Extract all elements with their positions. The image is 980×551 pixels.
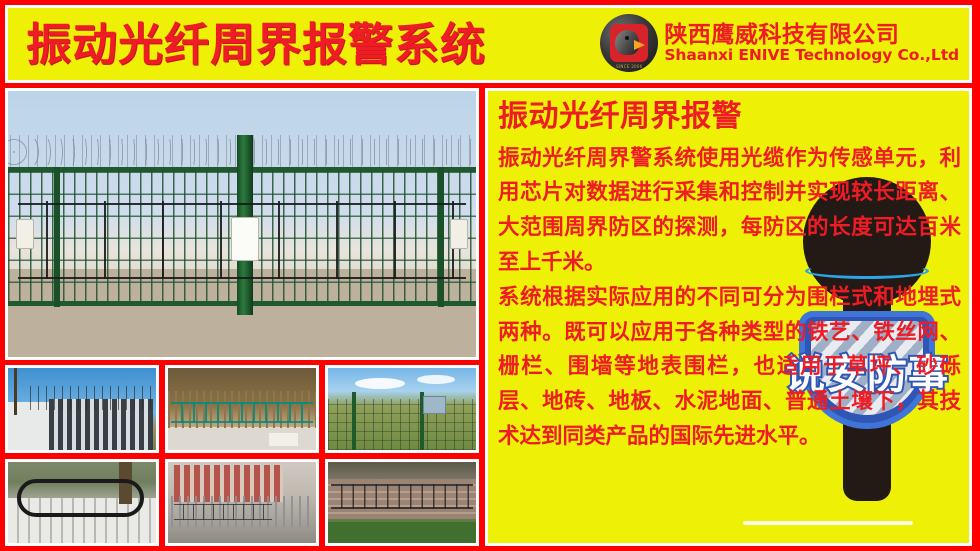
grassland-mesh-fence-photo bbox=[325, 365, 479, 453]
ground-buried-grid-photo bbox=[5, 459, 159, 547]
thumbnail-row-top bbox=[5, 365, 479, 453]
factory-perimeter-fence-photo bbox=[165, 459, 319, 547]
thumb2-cable bbox=[171, 402, 313, 423]
thumb3-box bbox=[423, 396, 447, 414]
hillside-iron-fence-photo bbox=[165, 365, 319, 453]
poster-root: 振动光纤周界报警系统 SINCE 2006 陕西鹰威科技有限公司 Shaanxi… bbox=[0, 0, 980, 551]
panel-paragraph-1: 振动光纤周界警系统使用光缆作为传感单元，利用芯片对数据进行采集和控制并实现较长距… bbox=[498, 142, 961, 281]
company-name-en: Shaanxi ENIVE Technology Co.,Ltd bbox=[664, 47, 959, 63]
brick-wall-cable-photo bbox=[325, 459, 479, 547]
thumbnail-row-bottom bbox=[5, 459, 479, 547]
thumb3-mesh bbox=[328, 399, 476, 450]
thumb1-cable bbox=[23, 386, 156, 410]
thumb2-box bbox=[269, 433, 299, 446]
thumbnail-grid bbox=[5, 365, 479, 546]
white-wall-steel-fence-photo bbox=[5, 365, 159, 453]
logo-plate bbox=[610, 24, 648, 62]
junction-box-center bbox=[231, 217, 259, 261]
panel-underline-rule bbox=[743, 521, 913, 525]
junction-box-right bbox=[450, 219, 468, 249]
page-title: 振动光纤周界报警系统 bbox=[26, 22, 486, 67]
thumb6-bush bbox=[328, 522, 476, 543]
company-brand: SINCE 2006 陕西鹰威科技有限公司 Shaanxi ENIVE Tech… bbox=[600, 14, 959, 72]
thumb1-tree bbox=[14, 368, 17, 415]
thumb3-cloud-b bbox=[417, 375, 455, 385]
eagle-emblem-icon: SINCE 2006 bbox=[600, 14, 658, 72]
panel-paragraph-2: 系统根据实际应用的不同可分为围栏式和地埋式两种。既可以应用于各种类型的铁艺、铁丝… bbox=[498, 281, 961, 455]
thumb5-cable bbox=[174, 504, 272, 520]
junction-box-left bbox=[16, 219, 34, 249]
thumb3-post-a bbox=[352, 392, 356, 449]
description-panel: 振动光纤周界报警 振动光纤周界警系统使用光缆作为传感单元，利用芯片对数据进行采集… bbox=[485, 88, 972, 546]
thumb4-cable bbox=[17, 479, 144, 516]
logo-since-label: SINCE 2006 bbox=[600, 64, 658, 69]
poster-body: 振动光纤周界报警 振动光纤周界警系统使用光缆作为传感单元，利用芯片对数据进行采集… bbox=[5, 88, 972, 546]
poster-header: 振动光纤周界报警系统 SINCE 2006 陕西鹰威科技有限公司 Shaanxi… bbox=[5, 5, 972, 83]
thumb3-cloud-a bbox=[355, 378, 405, 389]
fence-with-fiber-optic-cable-photo bbox=[5, 88, 479, 360]
panel-body: 振动光纤周界警系统使用光缆作为传感单元，利用芯片对数据进行采集和控制并实现较长距… bbox=[498, 142, 961, 455]
thumb6-cable bbox=[331, 484, 473, 508]
brand-text-block: 陕西鹰威科技有限公司 Shaanxi ENIVE Technology Co.,… bbox=[664, 23, 959, 63]
company-name-cn: 陕西鹰威科技有限公司 bbox=[664, 23, 959, 47]
eagle-beak-shape bbox=[634, 40, 645, 50]
panel-heading: 振动光纤周界报警 bbox=[498, 100, 961, 135]
image-gallery bbox=[5, 88, 479, 546]
